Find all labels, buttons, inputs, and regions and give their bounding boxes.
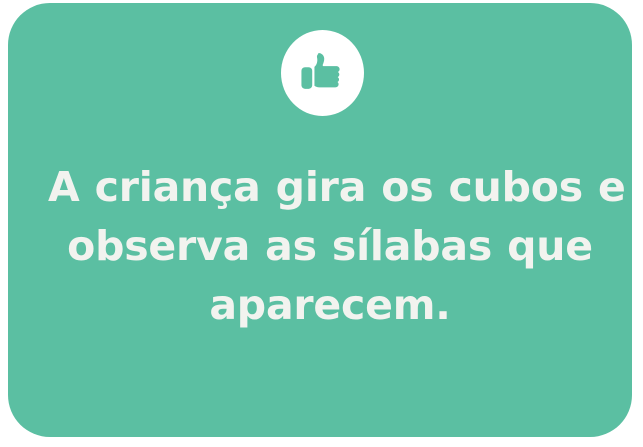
screen-root: A criança gira os cubos e observa as síl…	[0, 0, 643, 447]
message-line-1: A criança gira os cubos e	[48, 158, 612, 217]
card-message: A criança gira os cubos e observa as síl…	[48, 158, 612, 335]
message-line-3: aparecem.	[48, 276, 612, 335]
thumbs-up-icon	[300, 50, 346, 96]
message-line-2: observa as sílabas que	[48, 217, 612, 276]
thumbs-up-badge	[281, 30, 364, 116]
instruction-card: A criança gira os cubos e observa as síl…	[8, 3, 632, 437]
